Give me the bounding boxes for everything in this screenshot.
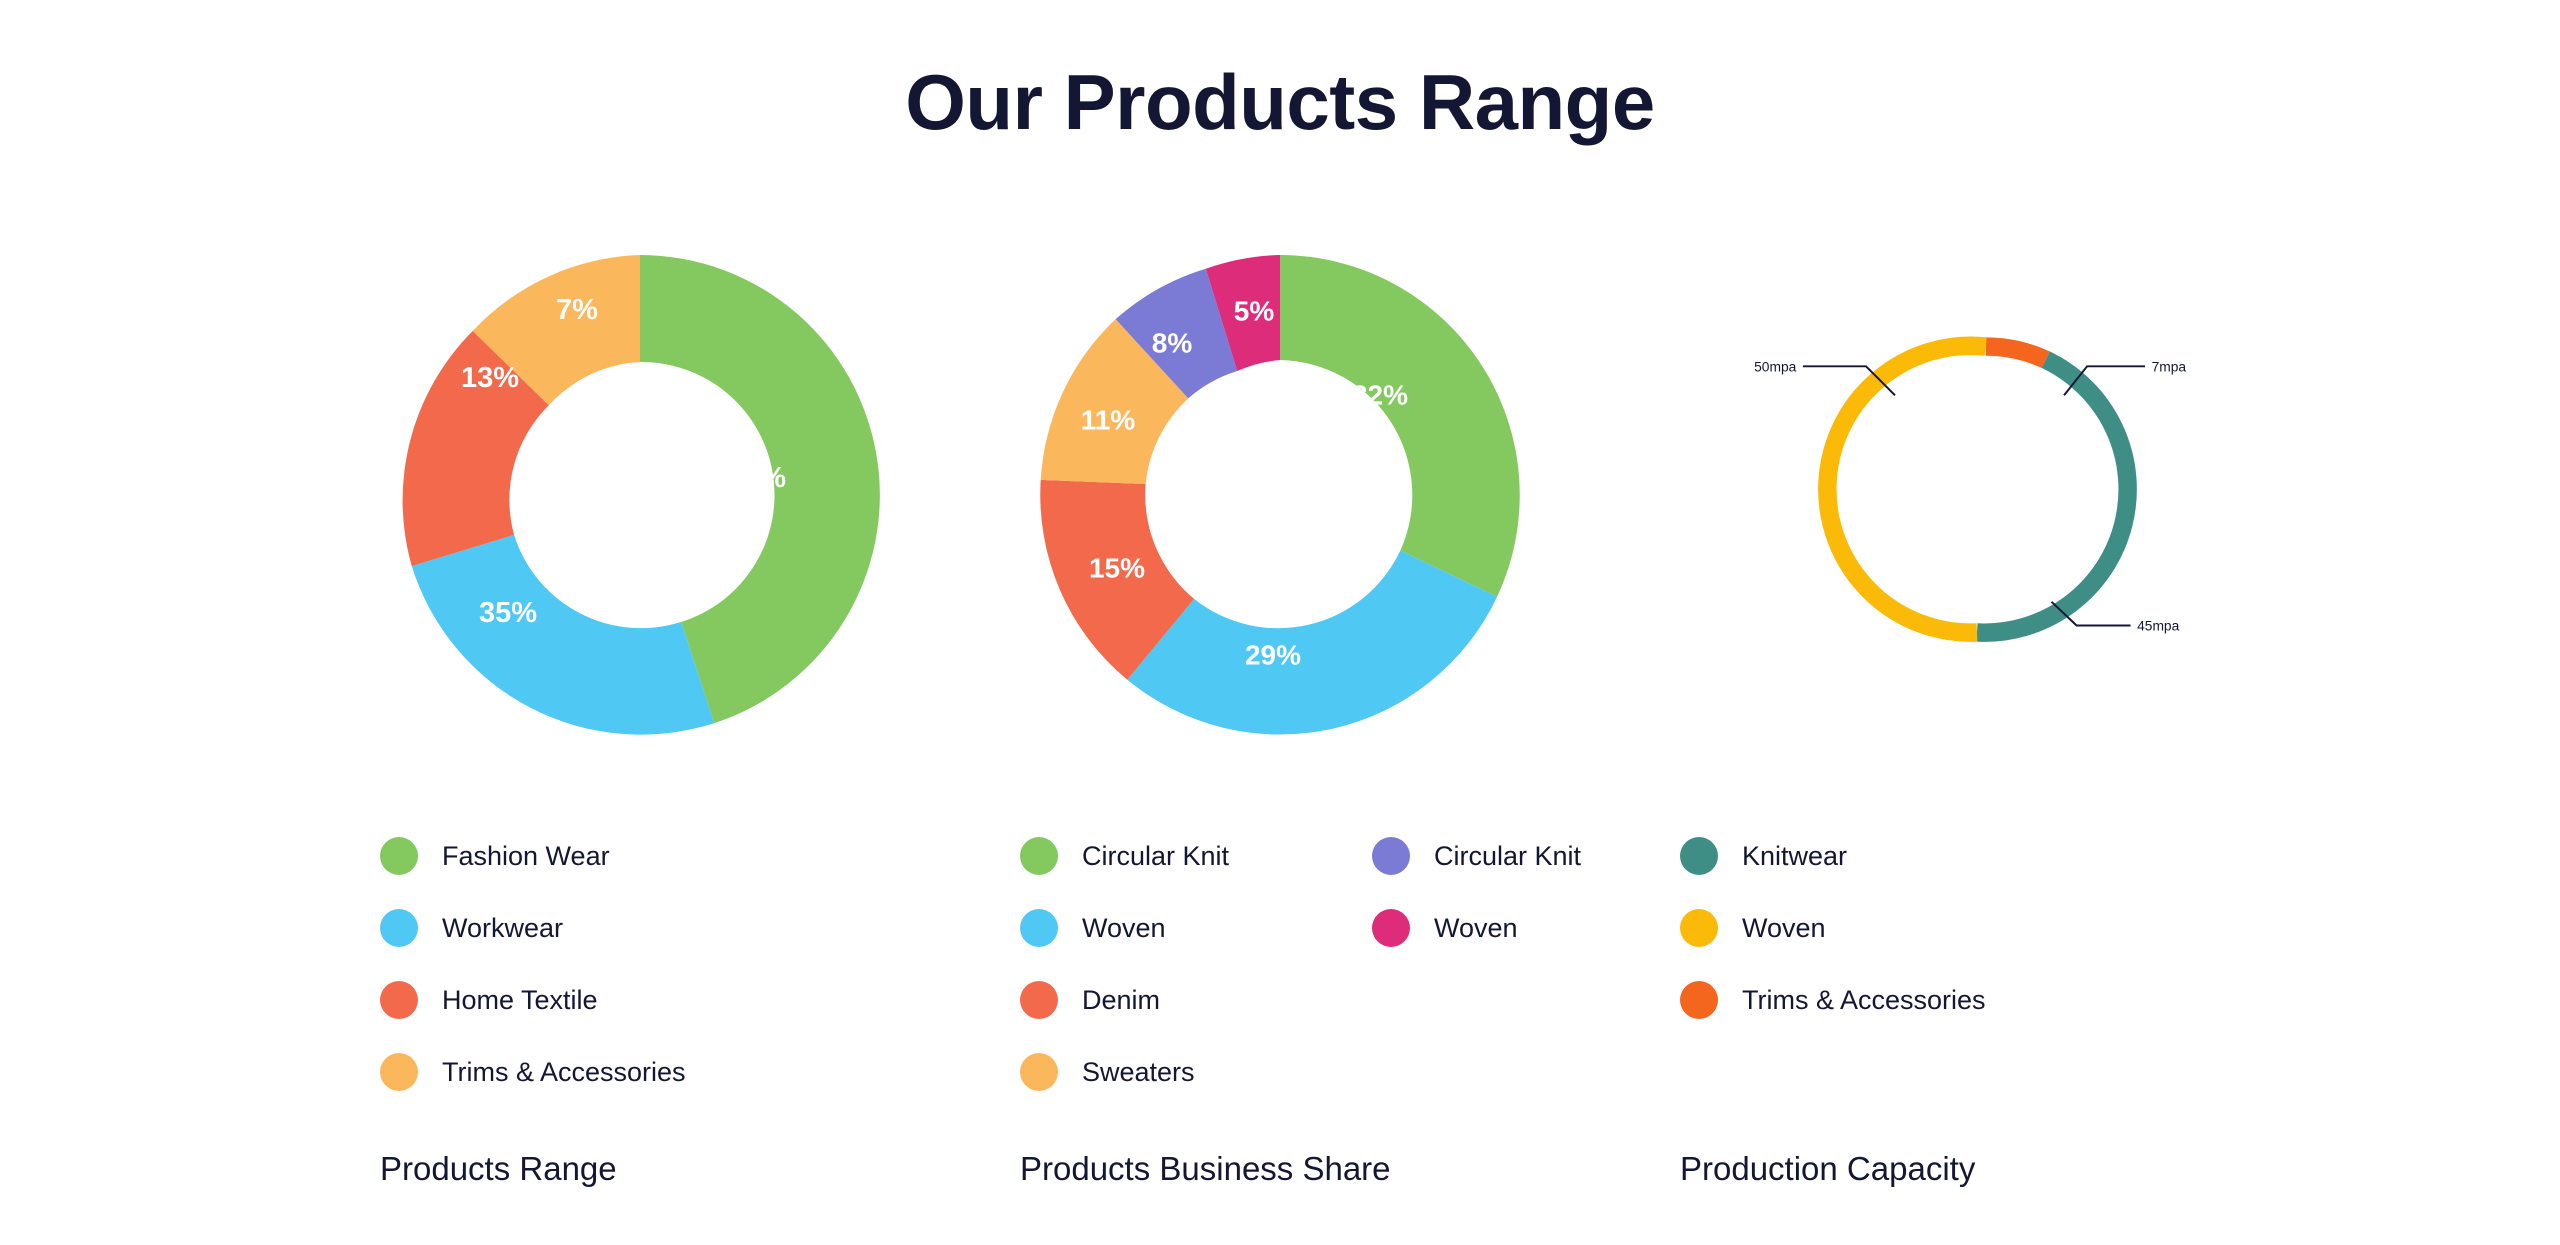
slice-label-35: 35% xyxy=(479,597,537,629)
donut-chart-products-range: 45% 35% 13% 7% xyxy=(380,235,900,755)
legend-column: Knitwear Woven Trims & Accessories xyxy=(1680,820,1986,1036)
legend-item-label: Woven xyxy=(1434,913,1518,944)
slice-label-7: 7% xyxy=(556,294,598,326)
legend-item-home-textile[interactable]: Home Textile xyxy=(380,964,686,1036)
legend-swatch-icon xyxy=(380,909,418,947)
legend-business-share: Circular Knit Woven Denim Sweaters xyxy=(1020,820,1581,1108)
chart-column-products-range: 45% 35% 13% 7% Fashion Wear Workwear xyxy=(380,220,1080,1220)
charts-container: 45% 35% 13% 7% Fashion Wear Workwear xyxy=(0,0,2560,1245)
legend-item-label: Circular Knit xyxy=(1082,841,1229,872)
callout-label-45mpa: 45mpa xyxy=(2137,618,2180,634)
slice-label-5: 5% xyxy=(1234,296,1275,327)
ring-chart-production-capacity: 50mpa 7mpa 45mpa xyxy=(1670,240,2170,740)
legend-item-label: Home Textile xyxy=(442,985,598,1016)
legend-column: Circular Knit Woven xyxy=(1372,820,1581,1108)
slice-label-8: 8% xyxy=(1152,328,1193,359)
ring-slice-woven[interactable] xyxy=(1827,346,1985,633)
legend-item-label: Workwear xyxy=(442,913,563,944)
legend-item-woven-blue[interactable]: Woven xyxy=(1020,892,1372,964)
chart-area-3: 50mpa 7mpa 45mpa xyxy=(1680,220,2380,780)
legend-item-trims-accessories[interactable]: Trims & Accessories xyxy=(380,1036,686,1108)
legend-item-label: Woven xyxy=(1742,913,1826,944)
legend-item-knitwear[interactable]: Knitwear xyxy=(1680,820,1986,892)
legend-swatch-icon xyxy=(1020,909,1058,947)
legend-swatch-icon xyxy=(1020,1053,1058,1091)
slice-label-45: 45% xyxy=(728,462,786,494)
callout-label-7mpa: 7mpa xyxy=(2152,358,2187,374)
chart-caption-products-range: Products Range xyxy=(380,1150,617,1188)
legend-item-workwear[interactable]: Workwear xyxy=(380,892,686,964)
legend-item-trims-accessories-orange[interactable]: Trims & Accessories xyxy=(1680,964,1986,1036)
donut-slice-workwear[interactable] xyxy=(412,535,714,735)
legend-swatch-icon xyxy=(1680,909,1718,947)
slice-label-29: 29% xyxy=(1245,640,1301,671)
callout-label-50mpa: 50mpa xyxy=(1754,358,1797,374)
donut-slice-woven-blue[interactable] xyxy=(1127,551,1497,735)
legend-products-range: Fashion Wear Workwear Home Textile Trims… xyxy=(380,820,686,1108)
legend-item-label: Fashion Wear xyxy=(442,841,610,872)
donut-slice-circular-knit-green[interactable] xyxy=(1280,255,1520,597)
legend-item-label: Trims & Accessories xyxy=(1742,985,1986,1016)
legend-item-label: Sweaters xyxy=(1082,1057,1195,1088)
legend-item-label: Woven xyxy=(1082,913,1166,944)
slice-label-32: 32% xyxy=(1352,380,1408,411)
legend-swatch-icon xyxy=(380,981,418,1019)
legend-item-woven-magenta[interactable]: Woven xyxy=(1372,892,1581,964)
legend-production-capacity: Knitwear Woven Trims & Accessories xyxy=(1680,820,1986,1036)
legend-swatch-icon xyxy=(380,1053,418,1091)
legend-item-denim[interactable]: Denim xyxy=(1020,964,1372,1036)
donut-chart-business-share: 32% 29% 15% 11% 8% 5% xyxy=(1020,235,1540,755)
chart-caption-production-capacity: Production Capacity xyxy=(1680,1150,1975,1188)
legend-column: Circular Knit Woven Denim Sweaters xyxy=(1020,820,1372,1108)
legend-column: Fashion Wear Workwear Home Textile Trims… xyxy=(380,820,686,1108)
legend-item-label: Trims & Accessories xyxy=(442,1057,686,1088)
chart-area-1: 45% 35% 13% 7% xyxy=(380,220,1080,780)
chart-area-2: 32% 29% 15% 11% 8% 5% xyxy=(1020,220,1720,780)
ring-slice-trims-accessories[interactable] xyxy=(1986,347,2046,360)
legend-swatch-icon xyxy=(1372,909,1410,947)
chart-caption-business-share: Products Business Share xyxy=(1020,1150,1391,1188)
legend-swatch-icon xyxy=(1020,837,1058,875)
legend-swatch-icon xyxy=(1372,837,1410,875)
legend-item-sweaters[interactable]: Sweaters xyxy=(1020,1036,1372,1108)
legend-item-label: Circular Knit xyxy=(1434,841,1581,872)
legend-swatch-icon xyxy=(1680,837,1718,875)
legend-item-circular-knit-green[interactable]: Circular Knit xyxy=(1020,820,1372,892)
legend-swatch-icon xyxy=(1680,981,1718,1019)
legend-item-woven-yellow[interactable]: Woven xyxy=(1680,892,1986,964)
legend-item-fashion-wear[interactable]: Fashion Wear xyxy=(380,820,686,892)
chart-column-production-capacity: 50mpa 7mpa 45mpa Knitwear Woven xyxy=(1680,220,2380,1220)
legend-swatch-icon xyxy=(380,837,418,875)
legend-swatch-icon xyxy=(1020,981,1058,1019)
legend-item-label: Knitwear xyxy=(1742,841,1847,872)
slice-label-13: 13% xyxy=(461,362,519,394)
ring-slice-knitwear[interactable] xyxy=(1977,360,2128,633)
legend-item-circular-knit-purple[interactable]: Circular Knit xyxy=(1372,820,1581,892)
slice-label-11: 11% xyxy=(1081,405,1136,436)
chart-column-products-business-share: 32% 29% 15% 11% 8% 5% Circular Knit Wove… xyxy=(1020,220,1720,1220)
legend-item-label: Denim xyxy=(1082,985,1160,1016)
slice-label-15: 15% xyxy=(1089,553,1145,584)
